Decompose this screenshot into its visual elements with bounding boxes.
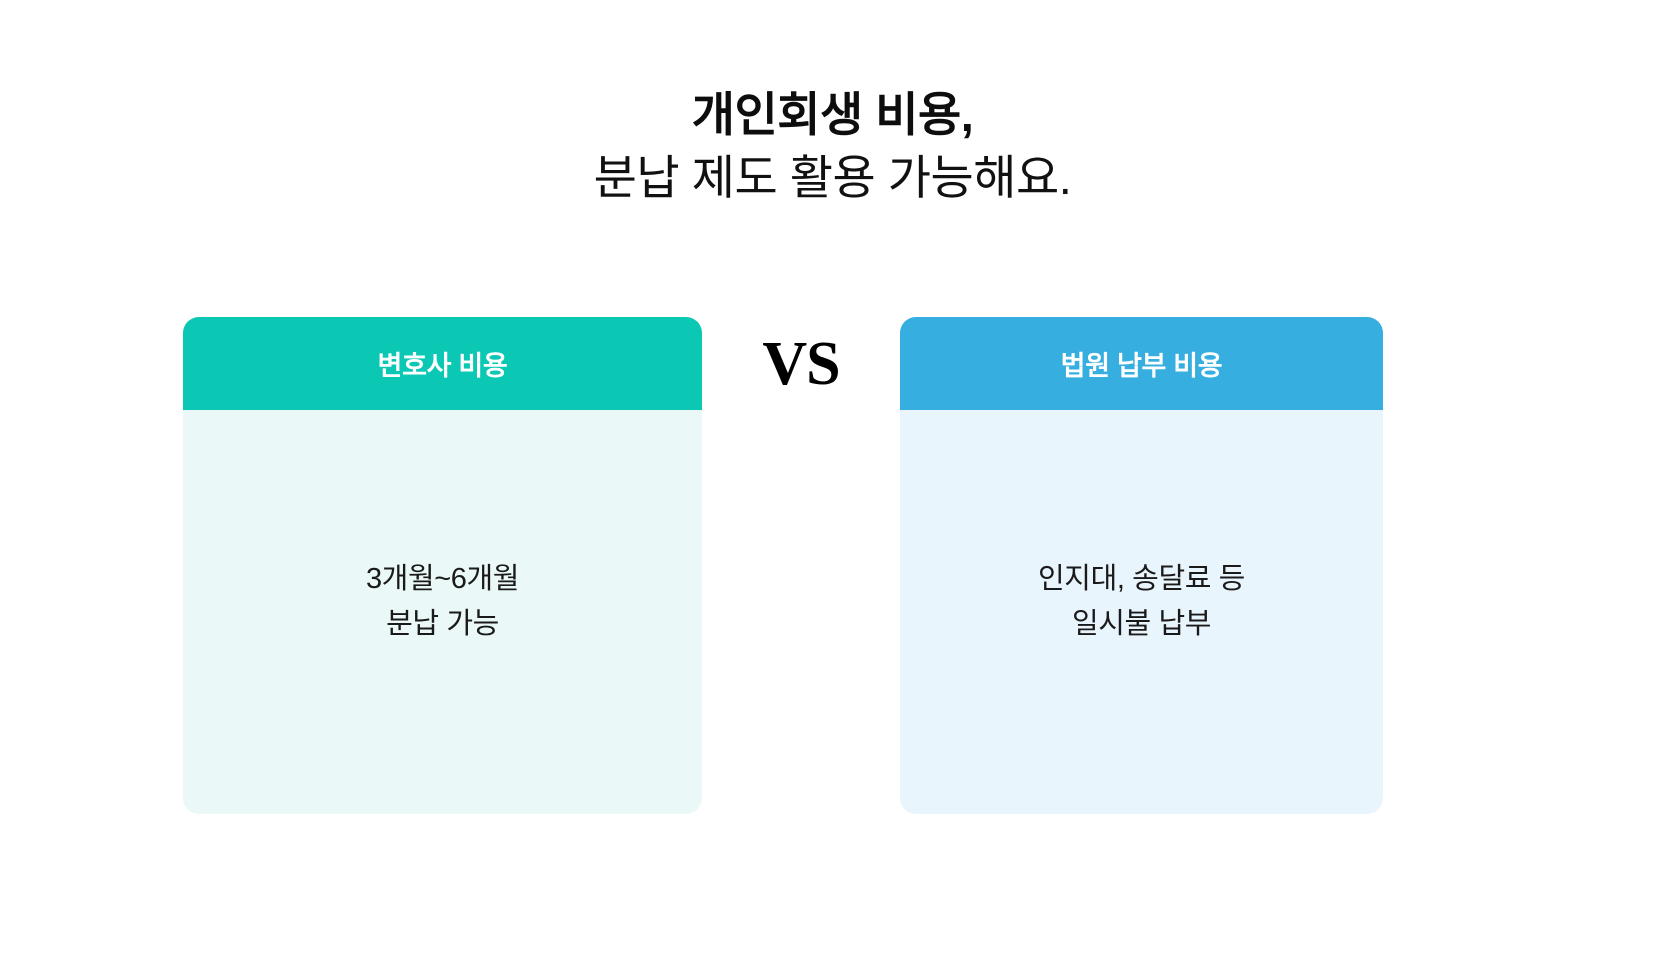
comparison-card-body-text: 3개월~6개월 분납 가능 <box>366 557 519 647</box>
comparison-section: 변호사 비용 3개월~6개월 분납 가능 VS 법원 납부 비용 인지대, 송달… <box>0 317 1665 817</box>
comparison-card-header-label: 법원 납부 비용 <box>1061 344 1223 383</box>
page-title-line-2: 분납 제도 활용 가능해요. <box>0 146 1665 209</box>
page-title: 개인회생 비용, 분납 제도 활용 가능해요. <box>0 84 1665 209</box>
comparison-card-header-court-payment: 법원 납부 비용 <box>900 317 1383 410</box>
comparison-card-body-line-1: 인지대, 송달료 등 <box>1038 557 1245 602</box>
comparison-card-lawyer-fee: 변호사 비용 3개월~6개월 분납 가능 <box>183 317 702 814</box>
versus-label: VS <box>762 333 839 395</box>
comparison-card-body-line-2: 분납 가능 <box>366 602 519 647</box>
versus-badge: VS <box>702 317 900 410</box>
comparison-card-body-line-1: 3개월~6개월 <box>366 557 519 602</box>
comparison-card-body-text: 인지대, 송달료 등 일시불 납부 <box>1038 557 1245 647</box>
comparison-card-body-line-2: 일시불 납부 <box>1038 602 1245 647</box>
comparison-card-header-lawyer-fee: 변호사 비용 <box>183 317 702 410</box>
comparison-card-body-lawyer-fee: 3개월~6개월 분납 가능 <box>183 410 702 814</box>
comparison-card-header-label: 변호사 비용 <box>378 344 508 383</box>
page-title-line-1: 개인회생 비용, <box>0 84 1665 146</box>
comparison-card-court-payment: 법원 납부 비용 인지대, 송달료 등 일시불 납부 <box>900 317 1383 814</box>
comparison-card-body-court-payment: 인지대, 송달료 등 일시불 납부 <box>900 410 1383 814</box>
